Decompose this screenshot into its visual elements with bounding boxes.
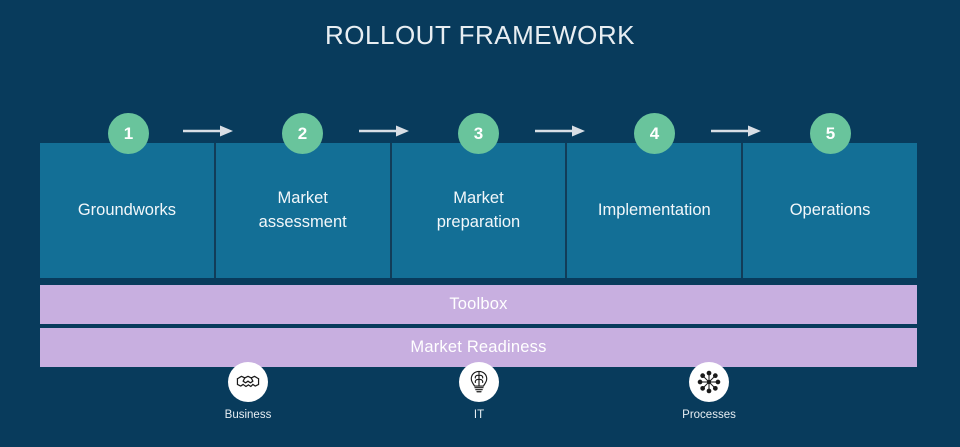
step-number-1: 1 <box>124 124 133 144</box>
arrow-right-icon-1 <box>182 122 234 140</box>
step-circle-2[interactable]: 2 <box>282 113 323 154</box>
phase-label-4: Implementation <box>592 199 717 222</box>
dimension-label-processes: Processes <box>682 409 736 421</box>
phase-label-3: Market preparation <box>431 187 526 234</box>
dimension-processes[interactable]: Processes <box>649 362 769 421</box>
phase-cell-4[interactable]: Implementation <box>567 143 743 278</box>
arrow-right-icon-2 <box>358 122 410 140</box>
step-number-4: 4 <box>650 124 659 144</box>
phase-cell-1[interactable]: Groundworks <box>40 143 216 278</box>
support-bar-label-market-readiness: Market Readiness <box>410 338 546 357</box>
step-number-3: 3 <box>474 124 483 144</box>
dimension-label-business: Business <box>225 409 272 421</box>
dimension-label-it: IT <box>474 409 484 421</box>
network-hub-icon <box>696 369 722 395</box>
dimension-it[interactable]: IT <box>419 362 539 421</box>
phase-label-5: Operations <box>784 199 877 222</box>
step-number-5: 5 <box>826 124 835 144</box>
lightbulb-brain-icon <box>466 369 492 395</box>
dimension-badge-it <box>459 362 499 402</box>
step-circle-1[interactable]: 1 <box>108 113 149 154</box>
phase-cell-2[interactable]: Market assessment <box>216 143 392 278</box>
arrow-right-icon-3 <box>534 122 586 140</box>
page-title: ROLLOUT FRAMEWORK <box>0 20 960 51</box>
step-circle-4[interactable]: 4 <box>634 113 675 154</box>
step-circle-3[interactable]: 3 <box>458 113 499 154</box>
arrow-right-icon-4 <box>710 122 762 140</box>
phase-band: Groundworks Market assessment Market pre… <box>40 143 917 278</box>
phase-cell-3[interactable]: Market preparation <box>392 143 568 278</box>
handshake-icon <box>235 369 261 395</box>
step-number-2: 2 <box>298 124 307 144</box>
phase-label-1: Groundworks <box>72 199 182 222</box>
dimension-badge-processes <box>689 362 729 402</box>
support-bar-toolbox[interactable]: Toolbox <box>40 285 917 324</box>
rollout-framework-slide: ROLLOUT FRAMEWORK Groundworks Market ass… <box>0 0 960 447</box>
step-circle-5[interactable]: 5 <box>810 113 851 154</box>
phase-label-2: Market assessment <box>253 187 353 234</box>
phase-cell-5[interactable]: Operations <box>743 143 917 278</box>
dimension-badge-business <box>228 362 268 402</box>
support-bar-label-toolbox: Toolbox <box>449 295 507 314</box>
dimension-business[interactable]: Business <box>188 362 308 421</box>
